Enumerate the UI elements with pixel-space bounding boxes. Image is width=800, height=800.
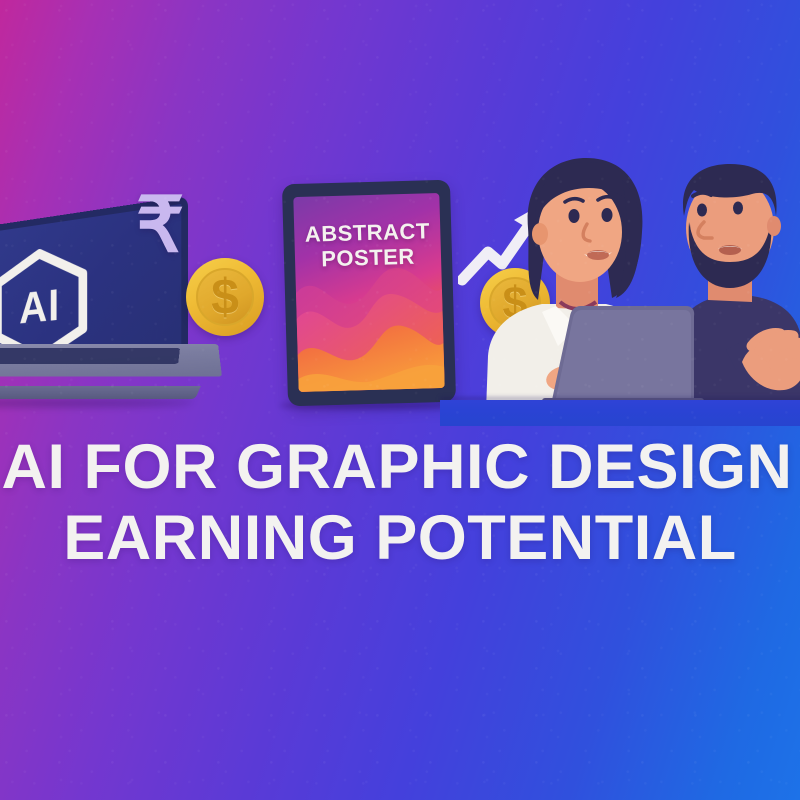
- promo-banner: AI ₹ $: [0, 0, 800, 800]
- desk-surface: [440, 400, 800, 426]
- laptop-keyboard-deck: [0, 348, 180, 364]
- headline-line-2: EARNING POTENTIAL: [0, 503, 800, 574]
- poster-title-line2: POSTER: [321, 243, 415, 271]
- rupee-icon: ₹: [136, 188, 184, 264]
- dollar-coin-icon: $: [186, 258, 264, 336]
- tablet-illustration: ABSTRACT POSTER: [285, 182, 453, 404]
- laptop-shadow: [0, 399, 196, 407]
- tablet-poster-screen: ABSTRACT POSTER: [293, 193, 444, 392]
- poster-title: ABSTRACT POSTER: [294, 219, 441, 272]
- headline-line-1: AI FOR GRAPHIC DESIGN: [0, 432, 800, 503]
- laptop-front-edge: [0, 386, 201, 399]
- people-illustration: [480, 150, 800, 412]
- man-figure: [676, 164, 800, 412]
- page-title: AI FOR GRAPHIC DESIGN EARNING POTENTIAL: [0, 432, 800, 573]
- coin-dollar-label: $: [186, 258, 264, 336]
